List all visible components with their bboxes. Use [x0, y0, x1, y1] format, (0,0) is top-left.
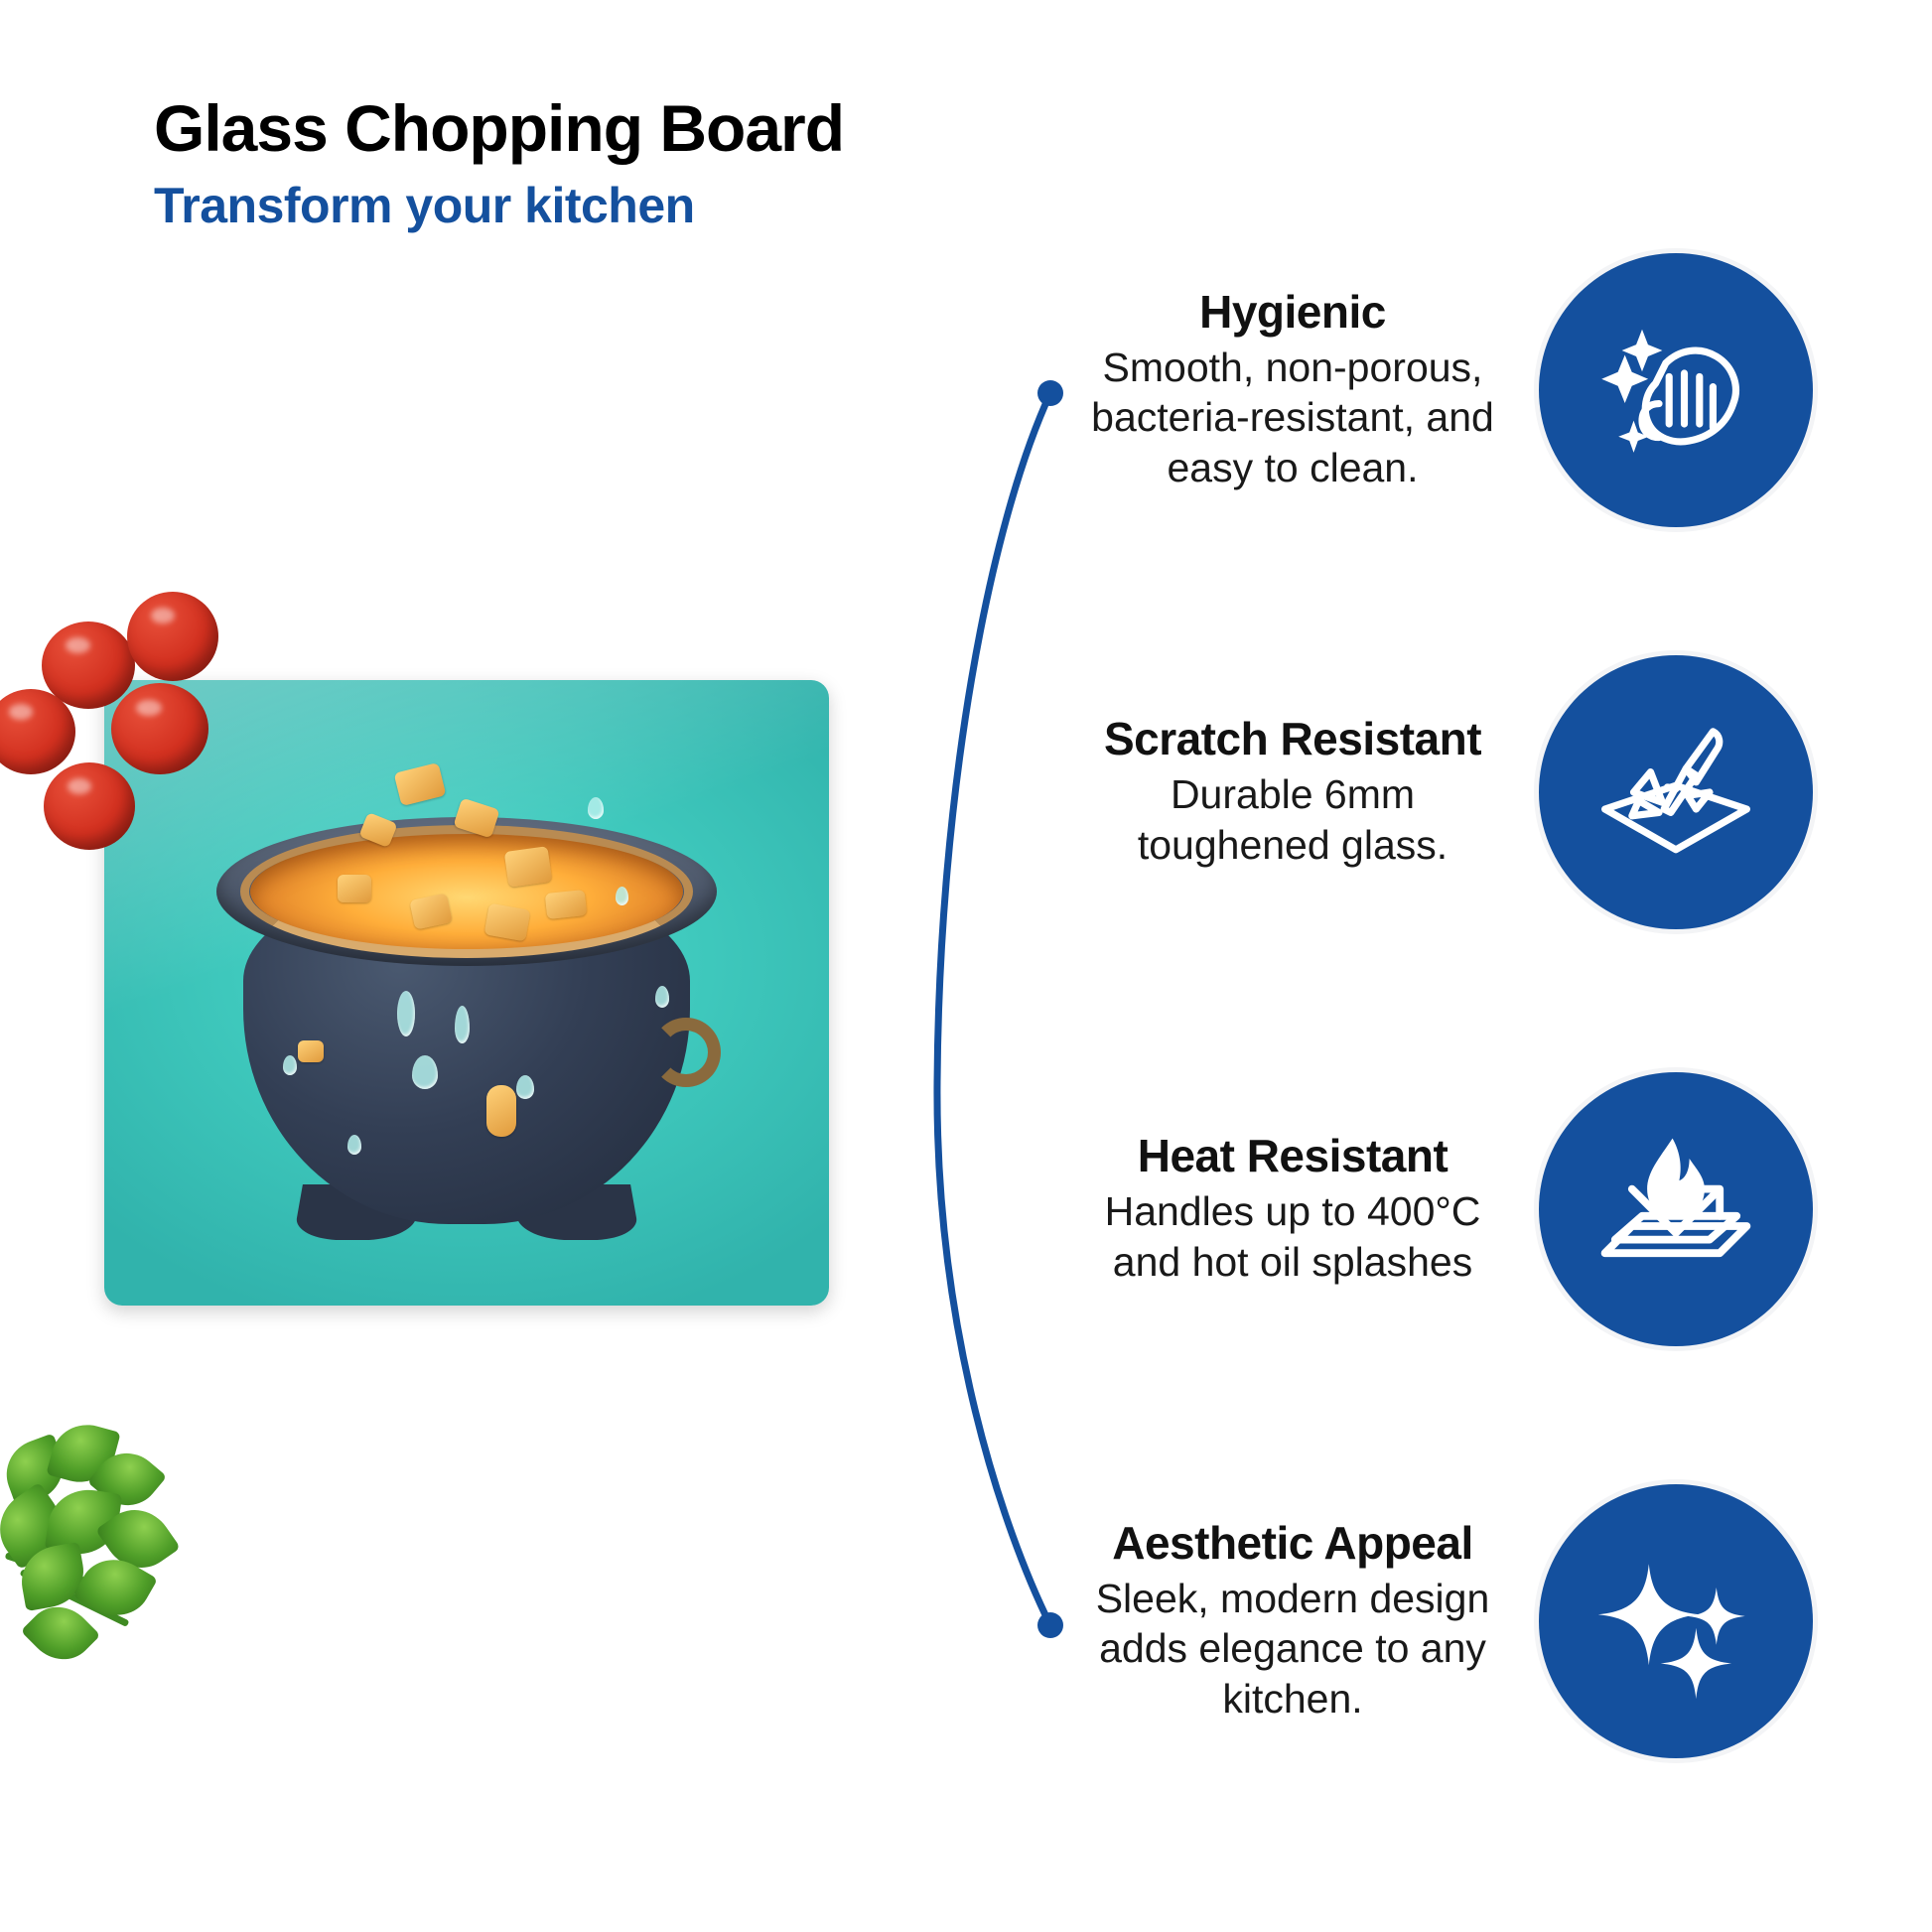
water-drop	[616, 887, 628, 905]
product-image	[0, 596, 874, 1291]
food-chunk	[298, 1040, 324, 1062]
feature-text-aesthetic-appeal: Aesthetic Appeal Sleek, modern design ad…	[1072, 1518, 1539, 1725]
water-drop	[655, 986, 669, 1008]
feature-title: Scratch Resistant	[1072, 714, 1513, 765]
food-chunk	[394, 762, 447, 806]
infographic-canvas: Glass Chopping Board Transform your kitc…	[0, 0, 1932, 1932]
cauldron-handle	[651, 1018, 721, 1087]
knife-impact-surface-icon[interactable]	[1539, 655, 1813, 929]
feature-text-heat-resistant: Heat Resistant Handles up to 400°C and h…	[1072, 1131, 1539, 1287]
water-drop	[397, 991, 415, 1036]
feature-text-scratch-resistant: Scratch Resistant Durable 6mm toughened …	[1072, 714, 1539, 870]
feature-row-scratch-resistant[interactable]: Scratch Resistant Durable 6mm toughened …	[1072, 655, 1813, 929]
water-drop	[347, 1135, 361, 1155]
feature-description: Sleek, modern design adds elegance to an…	[1072, 1574, 1513, 1725]
connector-dot-bottom	[1037, 1612, 1063, 1638]
hand-wipe-sparkle-icon[interactable]	[1539, 253, 1813, 527]
water-drop	[455, 1006, 470, 1043]
flame-deflect-surface-icon[interactable]	[1539, 1072, 1813, 1346]
feature-row-aesthetic-appeal[interactable]: Aesthetic Appeal Sleek, modern design ad…	[1072, 1484, 1813, 1758]
food-chunk	[545, 890, 587, 919]
sparkles-glyph	[1591, 1537, 1760, 1706]
feature-title: Hygienic	[1072, 287, 1513, 339]
page-title: Glass Chopping Board	[154, 94, 844, 163]
connector-path	[937, 393, 1050, 1625]
water-drop	[516, 1075, 534, 1099]
flame-deflect-surface-glyph	[1591, 1125, 1760, 1294]
water-drop	[283, 1055, 297, 1075]
cherry-tomato	[127, 592, 218, 681]
food-chunk	[484, 902, 531, 941]
feature-description: Durable 6mm toughened glass.	[1072, 769, 1513, 871]
water-drop	[588, 797, 604, 819]
cherry-tomato	[44, 762, 135, 850]
hand-wipe-sparkle-glyph	[1591, 306, 1760, 475]
feature-row-heat-resistant[interactable]: Heat Resistant Handles up to 400°C and h…	[1072, 1072, 1813, 1346]
connector-dot-top	[1037, 380, 1063, 406]
cauldron-illustration	[189, 758, 745, 1254]
page-subtitle: Transform your kitchen	[154, 179, 844, 233]
knife-impact-surface-glyph	[1591, 708, 1760, 877]
feature-text-hygienic: Hygienic Smooth, non-porous, bacteria-re…	[1072, 287, 1539, 493]
water-drop	[412, 1055, 438, 1089]
cherry-tomato	[111, 683, 208, 774]
feature-row-hygienic[interactable]: Hygienic Smooth, non-porous, bacteria-re…	[1072, 253, 1813, 527]
food-chunk	[338, 875, 371, 902]
feature-title: Aesthetic Appeal	[1072, 1518, 1513, 1570]
glass-board	[104, 680, 829, 1306]
feature-title: Heat Resistant	[1072, 1131, 1513, 1182]
parsley-bunch	[0, 1420, 223, 1668]
food-chunk	[486, 1085, 516, 1137]
feature-description: Handles up to 400°C and hot oil splashes	[1072, 1186, 1513, 1288]
sparkles-icon[interactable]	[1539, 1484, 1813, 1758]
food-chunk	[504, 846, 553, 888]
feature-description: Smooth, non-porous, bacteria-resistant, …	[1072, 343, 1513, 493]
header-block: Glass Chopping Board Transform your kitc…	[154, 94, 844, 233]
